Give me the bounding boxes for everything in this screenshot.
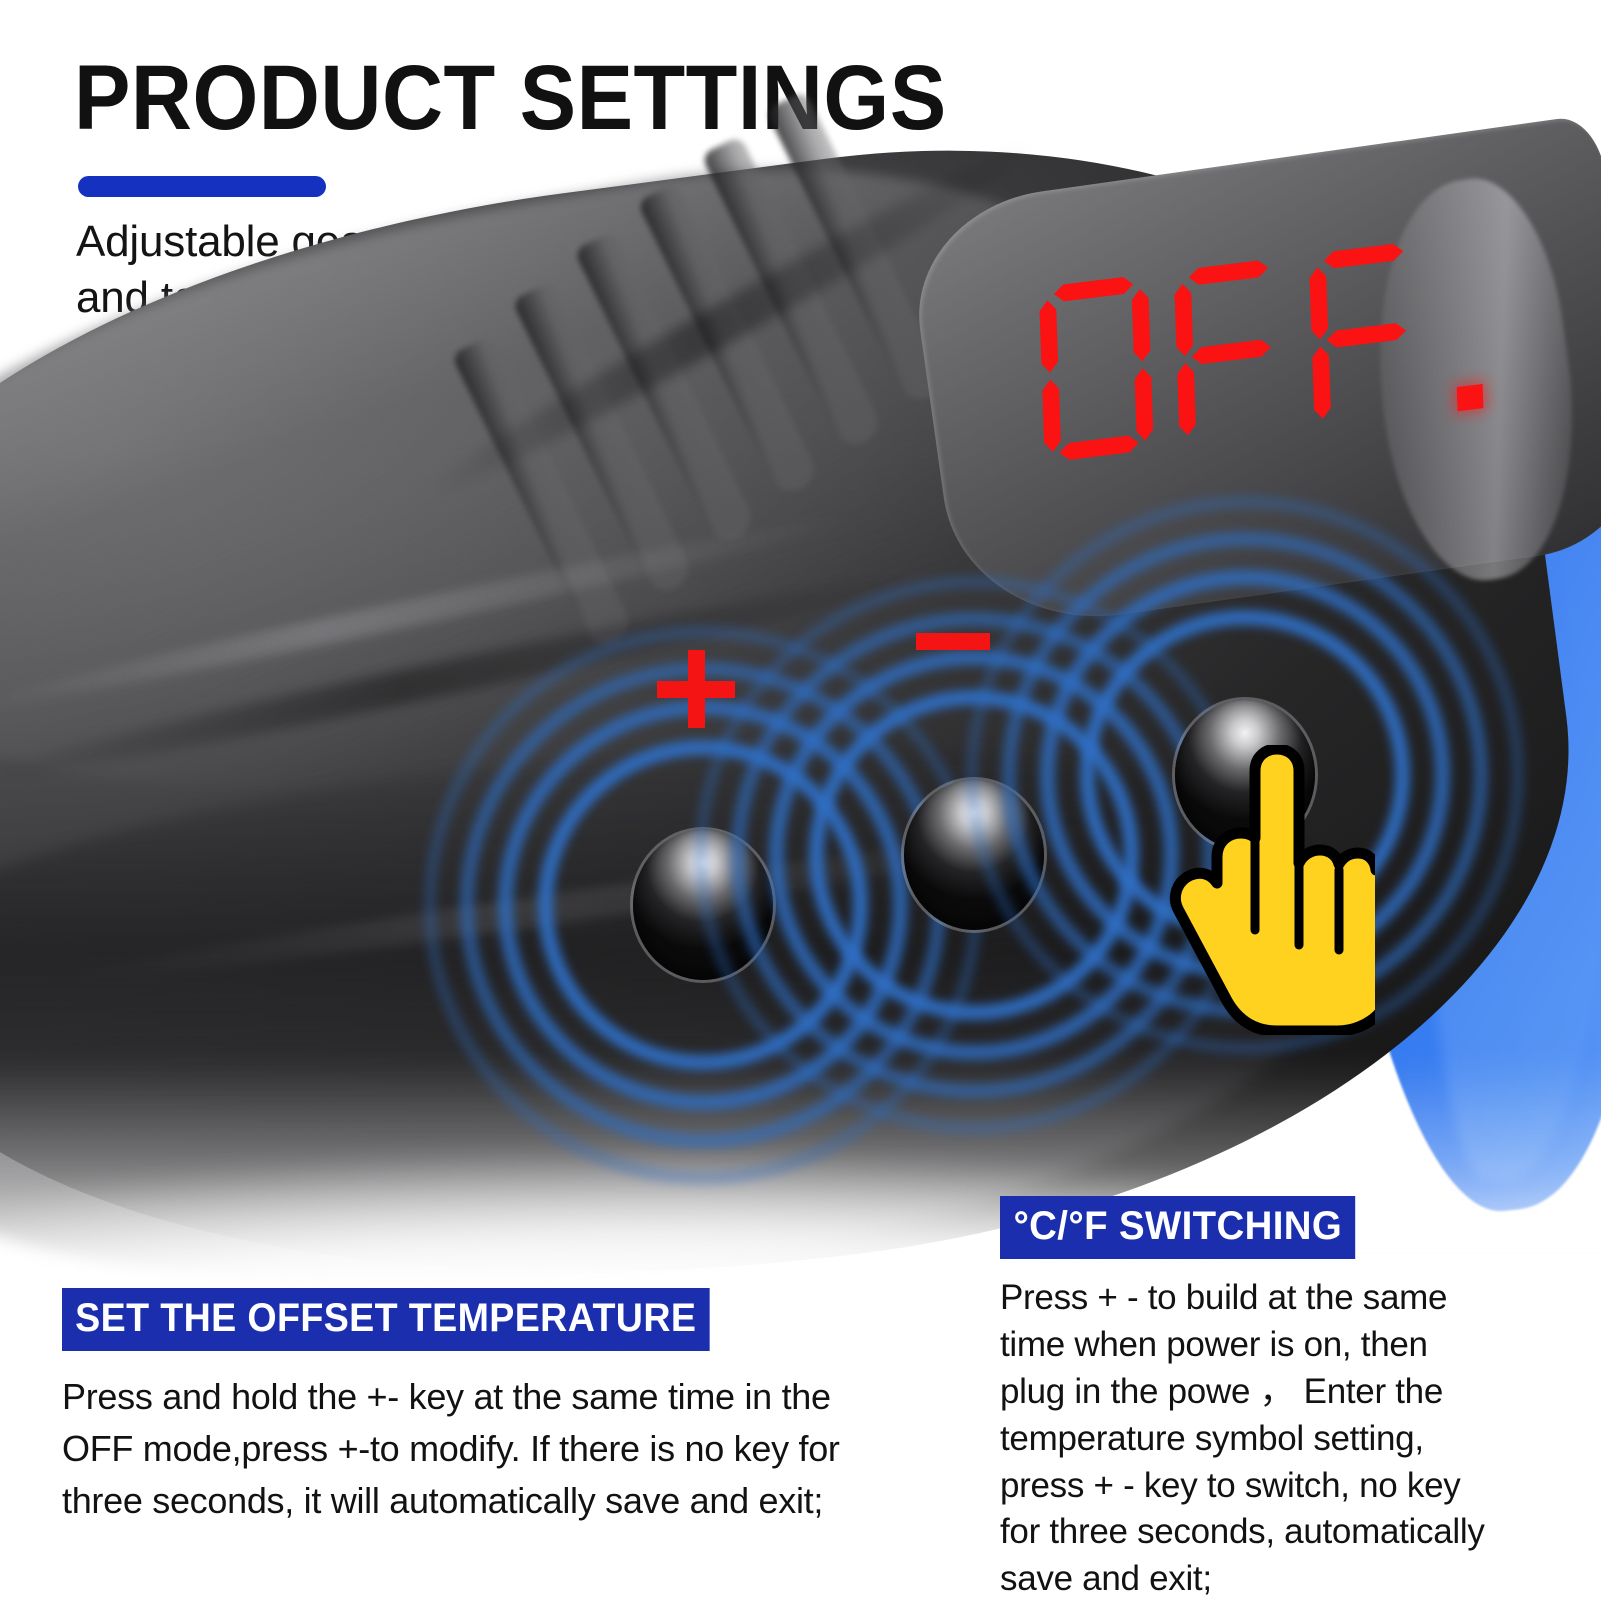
section-body-offset-temperature: Press and hold the +- key at the same ti… [62,1371,862,1526]
section-offset-temperature: SET THE OFFSET TEMPERATURE Press and hol… [62,1288,862,1526]
plus-symbol-icon [657,650,735,728]
pointing-hand-cursor [1155,745,1375,1035]
minus-symbol-icon [916,633,990,650]
section-cf-switching: °C/°F SWITCHING Press + - to build at th… [1000,1196,1500,1601]
section-heading-cf-switching: °C/°F SWITCHING [1000,1196,1356,1259]
section-body-cf-switching: Press + - to build at the same time when… [1000,1275,1500,1601]
infographic-canvas: PRODUCT SETTINGS Adjustable gear and tem… [0,0,1601,1601]
section-heading-offset-temperature: SET THE OFFSET TEMPERATURE [62,1288,709,1351]
